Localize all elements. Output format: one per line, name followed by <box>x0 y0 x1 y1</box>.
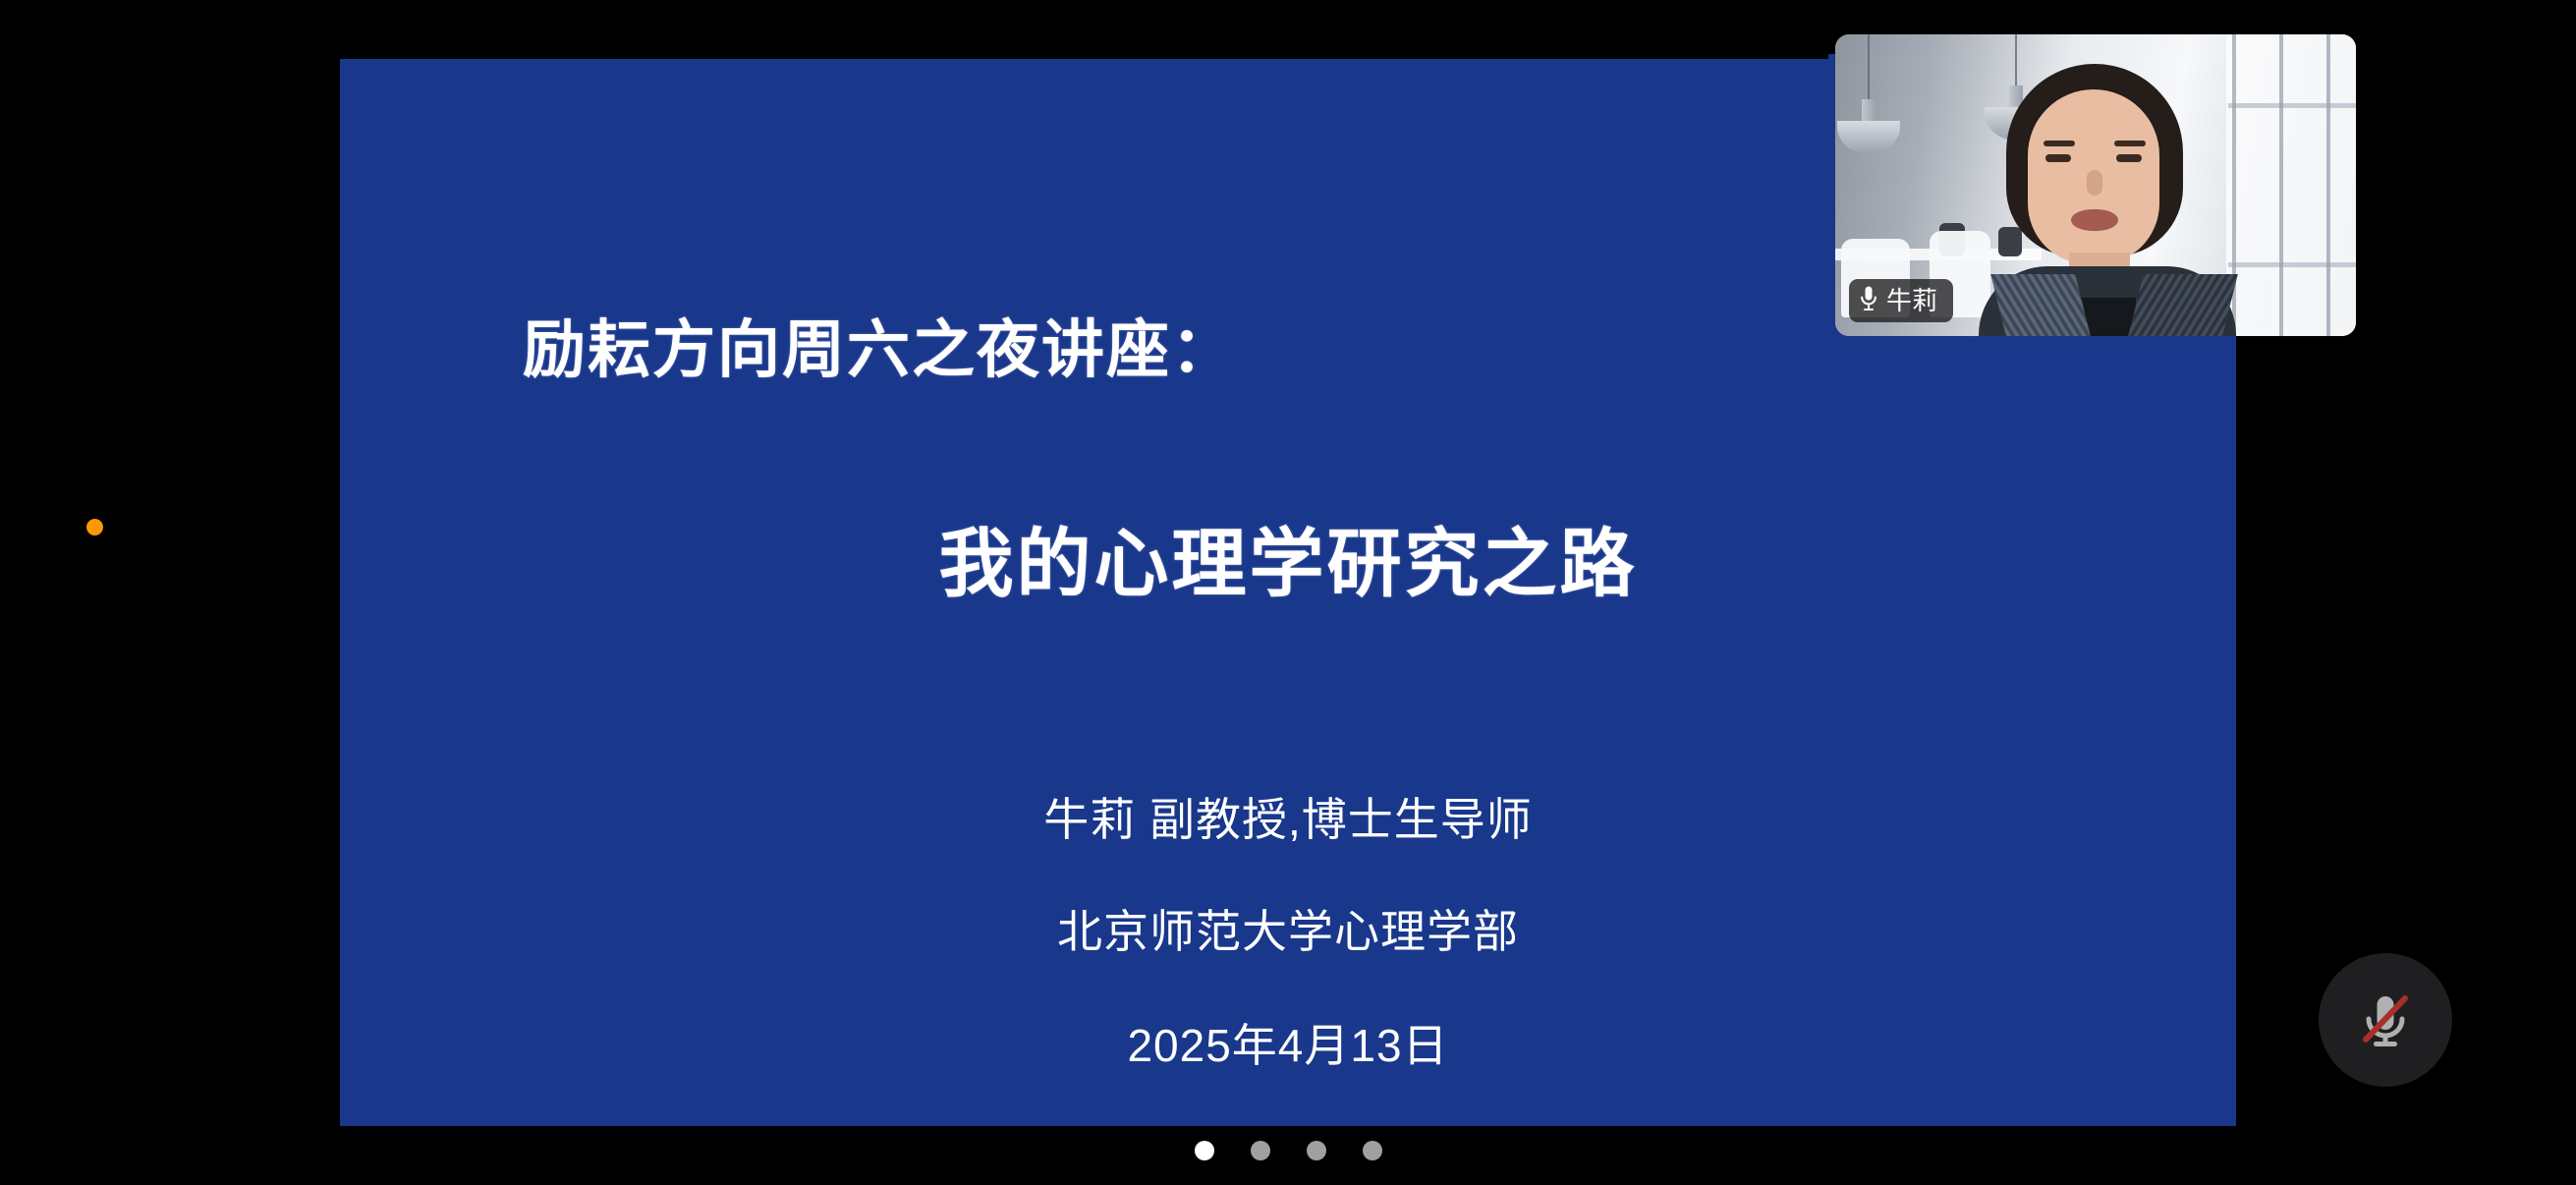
orange-status-dot <box>86 519 103 536</box>
microphone-icon <box>1859 285 1878 317</box>
participant-name-badge: 牛莉 <box>1849 279 1953 322</box>
pagination-dot-3[interactable] <box>1307 1141 1326 1160</box>
window-sill <box>2228 103 2356 108</box>
participant-silhouette <box>1985 64 2228 336</box>
mute-toggle-button[interactable] <box>2319 953 2452 1087</box>
slide-pagination <box>0 1141 2576 1160</box>
pendant-lamp-cord <box>1868 34 1870 107</box>
pagination-dot-1[interactable] <box>1195 1141 1214 1160</box>
slide-date: 2025年4月13日 <box>340 1010 2236 1075</box>
window-sill <box>2228 262 2356 267</box>
window-pane <box>2226 34 2356 336</box>
pagination-dot-2[interactable] <box>1251 1141 1270 1160</box>
window-mullion <box>2326 34 2330 336</box>
participant-name-label: 牛莉 <box>1886 288 1937 313</box>
slide-heading: 我的心理学研究之路 <box>340 503 2236 611</box>
slide-presenter: 牛莉 副教授,博士生导师 <box>340 784 2236 849</box>
screen-root: 励耘方向周六之夜讲座： 我的心理学研究之路 牛莉 副教授,博士生导师 北京师范大… <box>0 0 2576 1185</box>
slide-affiliation: 北京师范大学心理学部 <box>340 896 2236 961</box>
slide-title: 励耘方向周六之夜讲座： <box>523 300 1236 390</box>
window-mullion <box>2279 34 2283 336</box>
participant-video-tile[interactable]: 牛莉 <box>1835 34 2356 336</box>
microphone-muted-icon <box>2349 983 2422 1058</box>
pagination-dot-4[interactable] <box>1363 1141 1382 1160</box>
